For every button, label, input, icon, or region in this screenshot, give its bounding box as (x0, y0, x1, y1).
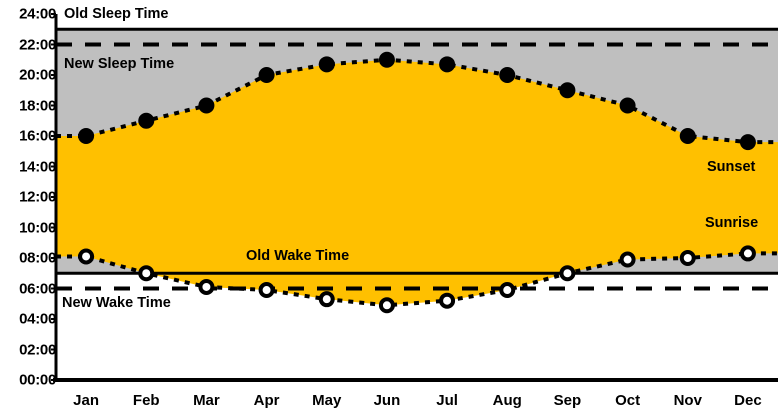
sunset-series-label: Sunset (707, 159, 755, 175)
x-tick-jun: Jun (374, 392, 401, 409)
new-wake-time-label: New Wake Time (62, 295, 171, 311)
sunset-marker-jun[interactable] (379, 52, 394, 67)
sunrise-marker-dec[interactable] (742, 247, 754, 259)
x-tick-jan: Jan (73, 392, 99, 409)
sunset-marker-jul[interactable] (440, 57, 455, 72)
sunrise-marker-nov[interactable] (682, 252, 694, 264)
sunrise-marker-apr[interactable] (261, 284, 273, 296)
sunset-marker-mar[interactable] (199, 98, 214, 113)
sunrise-marker-jun[interactable] (381, 299, 393, 311)
sunset-marker-oct[interactable] (620, 98, 635, 113)
x-tick-jul: Jul (436, 392, 458, 409)
sunrise-marker-sep[interactable] (561, 267, 573, 279)
sunset-marker-feb[interactable] (139, 113, 154, 128)
sunset-marker-may[interactable] (319, 57, 334, 72)
new-sleep-time-label: New Sleep Time (64, 56, 174, 72)
sunset-marker-aug[interactable] (500, 68, 515, 83)
sunrise-marker-may[interactable] (321, 293, 333, 305)
sunrise-marker-feb[interactable] (140, 267, 152, 279)
sunrise-marker-aug[interactable] (501, 284, 513, 296)
sunset-marker-dec[interactable] (740, 135, 755, 150)
sunrise-marker-oct[interactable] (622, 254, 634, 266)
x-tick-dec: Dec (734, 392, 762, 409)
old-wake-time-label: Old Wake Time (246, 248, 349, 264)
x-tick-oct: Oct (615, 392, 640, 409)
x-tick-sep: Sep (554, 392, 582, 409)
sunrise-marker-jan[interactable] (80, 250, 92, 262)
sunset-marker-sep[interactable] (560, 83, 575, 98)
sleep-daylight-chart: 24:0022:0020:0018:0016:0014:0012:0010:00… (0, 0, 780, 419)
sunrise-marker-jul[interactable] (441, 295, 453, 307)
sunrise-series-label: Sunrise (705, 215, 758, 231)
x-tick-mar: Mar (193, 392, 220, 409)
sunset-marker-nov[interactable] (680, 129, 695, 144)
old-sleep-time-label: Old Sleep Time (64, 6, 169, 22)
sunrise-marker-mar[interactable] (200, 281, 212, 293)
x-tick-aug: Aug (493, 392, 522, 409)
sunset-marker-apr[interactable] (259, 68, 274, 83)
x-tick-feb: Feb (133, 392, 160, 409)
x-tick-apr: Apr (254, 392, 280, 409)
sunset-marker-jan[interactable] (79, 129, 94, 144)
x-tick-nov: Nov (674, 392, 702, 409)
x-tick-may: May (312, 392, 341, 409)
